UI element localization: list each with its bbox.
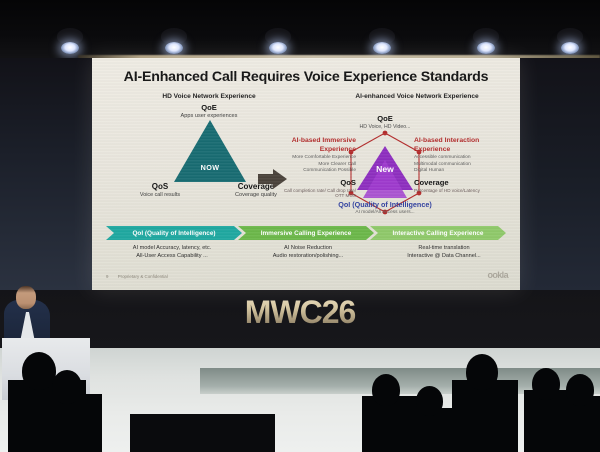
- chevron-interactive: Interactive Calling Experience: [370, 226, 506, 240]
- new-hexagon-label: New: [347, 164, 423, 174]
- audience-head: [566, 374, 594, 406]
- audience-head: [416, 386, 443, 416]
- mwc26-wordmark: MWC26: [0, 294, 600, 331]
- chevron-band-group: QoI (Quality of Intelligence) Immersive …: [106, 226, 506, 240]
- band-detail-qoi-line1: AI model Accuracy, latency, etc.: [102, 244, 242, 252]
- right-coverage-sub: Percentage of HD voice/Latency: [414, 188, 510, 193]
- right-coverage-vertex: Coverage Percentage of HD voice/Latency: [414, 178, 510, 193]
- right-qoi-vertex: QoI (Quality of Intelligence) AI model/A…: [320, 200, 450, 215]
- wall-left-panel: [0, 58, 92, 290]
- left-qos-sub: Voice call results: [114, 192, 206, 198]
- ai-immersive-sub: More Comfortable Experience More Clearer…: [278, 155, 356, 174]
- ceiling-light-icon: [561, 42, 579, 54]
- slide-page-number: 9: [106, 274, 108, 279]
- left-qos-vertex: QoS Voice call results: [114, 182, 206, 198]
- band-detail-immersive: AI Noise Reduction Audio restoration/pol…: [238, 244, 378, 261]
- ceiling-light-icon: [373, 42, 391, 54]
- wall-right-panel: [520, 58, 600, 290]
- right-qoe-label: QoE: [310, 114, 460, 123]
- audience-head: [22, 352, 56, 390]
- presenter-head: [16, 286, 36, 309]
- ceiling-light-icon: [61, 42, 79, 54]
- slide-confidentiality-note: Proprietary & Confidential: [118, 274, 168, 279]
- ceiling: [0, 0, 600, 58]
- ai-interaction-sub: Accessible communication Multimodal comm…: [414, 155, 506, 174]
- right-coverage-label: Coverage: [414, 178, 510, 187]
- audience-silhouette: [446, 426, 488, 452]
- right-qoi-sub: AI model/All Access users...: [320, 210, 450, 215]
- right-qos-vertex: QoS Call completion rate/ Call drop rate…: [278, 178, 356, 198]
- chevron-immersive: Immersive Calling Experience: [238, 226, 374, 240]
- band-detail-immersive-line2: Audio restoration/polishing...: [238, 252, 378, 260]
- right-qoi-label: QoI (Quality of Intelligence): [320, 200, 450, 209]
- ai-immersive-line1: AI-based Immersive: [278, 136, 356, 145]
- left-qoe-sub: Apps user experiences: [154, 113, 264, 119]
- band-detail-immersive-line1: AI Noise Reduction: [238, 244, 378, 252]
- right-panel-heading: AI-enhanced Voice Network Experience: [322, 93, 512, 100]
- projected-slide: AI-Enhanced Call Requires Voice Experien…: [92, 58, 520, 290]
- left-qoe-label: QoE: [154, 103, 264, 112]
- audience-head: [532, 368, 560, 400]
- audience-head: [52, 370, 82, 404]
- now-triangle-shape: [174, 120, 246, 182]
- left-qoe-vertex: QoE Apps user experiences: [154, 103, 264, 119]
- band-detail-interactive-line1: Real-time translation: [374, 244, 514, 252]
- ceiling-light-icon: [165, 42, 183, 54]
- left-panel-heading: HD Voice Network Experience: [114, 93, 304, 100]
- band-detail-qoi: AI model Accuracy, latency, etc. All-Use…: [102, 244, 242, 261]
- band-detail-interactive-line2: Interactive @ Data Channel...: [374, 252, 514, 260]
- audience-head: [372, 374, 400, 406]
- band-detail-qoi-line2: All-User Access Capability ...: [102, 252, 242, 260]
- ai-interaction-line1: AI-based Interaction: [414, 136, 506, 145]
- ceiling-light-icon: [269, 42, 287, 54]
- photo-scene: AI-Enhanced Call Requires Voice Experien…: [0, 0, 600, 452]
- ai-interaction-vertex: AI-based Interaction Experience Accessib…: [414, 136, 506, 175]
- audience-head: [466, 354, 498, 390]
- right-qos-label: QoS: [278, 178, 356, 187]
- right-qoe-vertex: QoE HD Voice, HD Video...: [310, 114, 460, 130]
- foreground-table: [130, 414, 275, 452]
- ookla-logo: ookla: [487, 270, 508, 280]
- slide-title: AI-Enhanced Call Requires Voice Experien…: [92, 69, 520, 85]
- ai-immersive-line2: Experience: [278, 145, 356, 154]
- now-triangle-label: NOW: [174, 163, 246, 172]
- slide-footer: 9 Proprietary & Confidential: [106, 274, 168, 279]
- ai-interaction-line2: Experience: [414, 145, 506, 154]
- right-qos-sub: Call completion rate/ Call drop rate/ OT…: [278, 188, 356, 198]
- band-detail-interactive: Real-time translation Interactive @ Data…: [374, 244, 514, 261]
- chevron-qoi: QoI (Quality of Intelligence): [106, 226, 242, 240]
- left-qos-label: QoS: [114, 182, 206, 191]
- ceiling-light-icon: [477, 42, 495, 54]
- ai-immersive-vertex: AI-based Immersive Experience More Comfo…: [278, 136, 356, 175]
